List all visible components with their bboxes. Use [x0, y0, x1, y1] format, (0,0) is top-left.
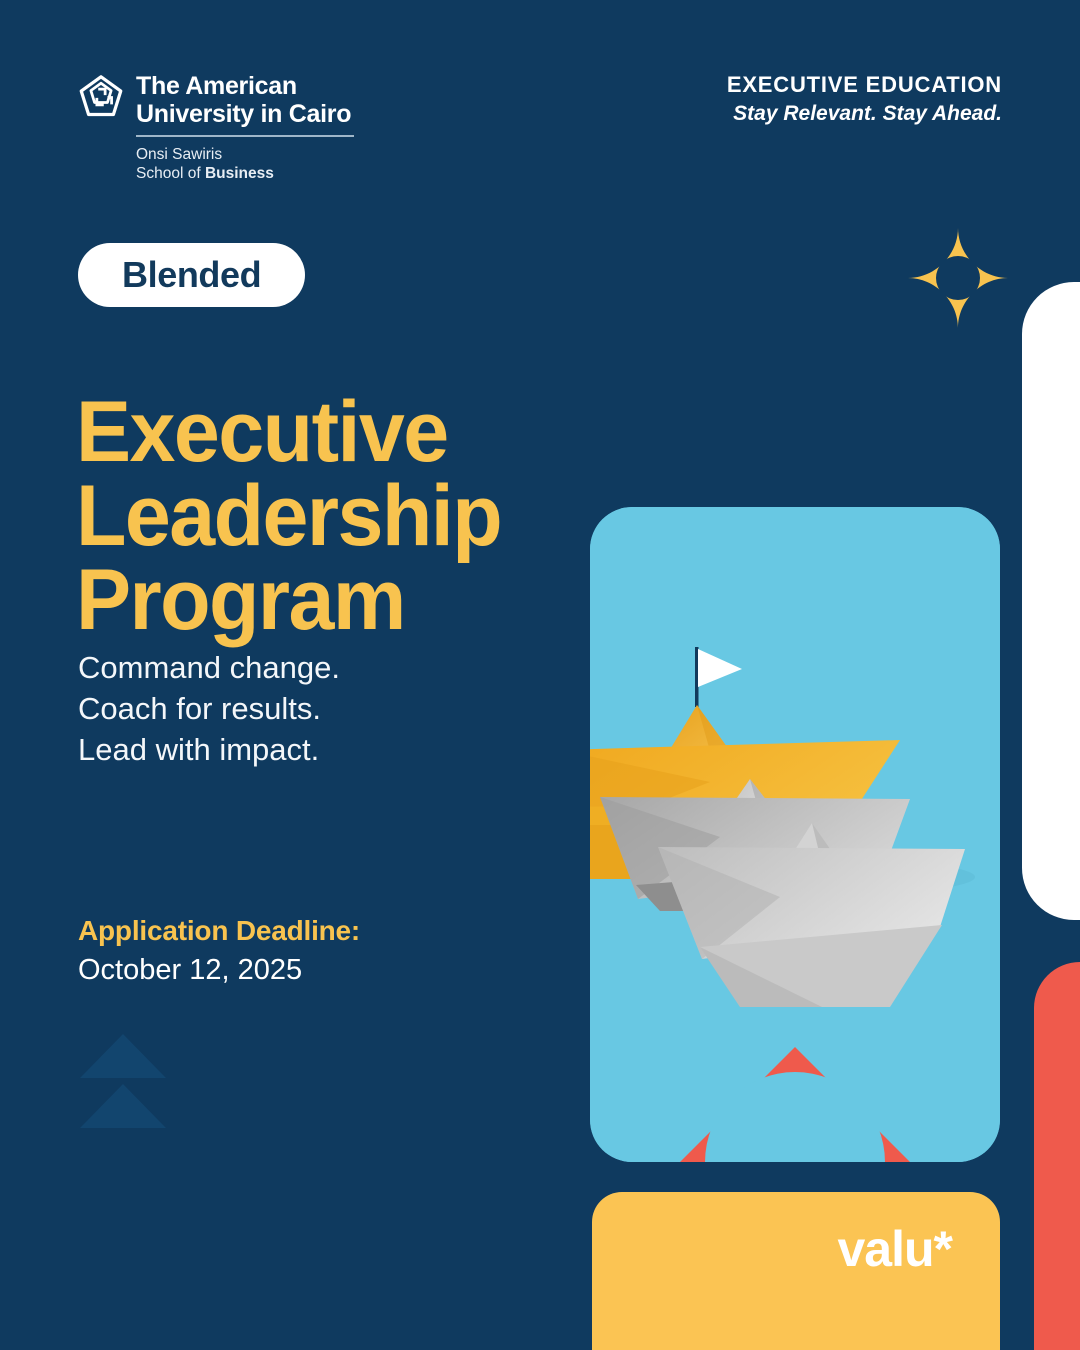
edge-panel-white — [1022, 282, 1080, 920]
four-point-star-icon — [908, 228, 1008, 328]
school-name-line-2: School of Business — [136, 164, 354, 183]
hero-image-card — [590, 507, 1000, 1162]
tagline-line-2: Coach for results. — [78, 689, 340, 730]
edge-panel-coral — [1034, 962, 1080, 1350]
valu-wordmark: valu* — [837, 1221, 952, 1277]
headline-line-1: Executive Leadership — [76, 384, 501, 564]
partner-card: valu* — [592, 1192, 1000, 1350]
badge-label: Blended — [122, 254, 261, 295]
origami-paper-boats-photo — [590, 507, 1000, 1162]
logo-divider — [136, 135, 354, 137]
valu-logo: valu* — [837, 1224, 952, 1274]
executive-education-tagline: Stay Relevant. Stay Ahead. — [727, 102, 1002, 126]
auc-pentagon-emblem-icon — [78, 72, 124, 122]
school-name-line-1: Onsi Sawiris — [136, 145, 354, 164]
school-name-regular: School of — [136, 165, 205, 182]
tagline-line-3: Lead with impact. — [78, 730, 340, 771]
auc-logo: The American University in Cairo Onsi Sa… — [78, 72, 354, 183]
school-name-bold: Business — [205, 165, 274, 182]
auc-logo-line-2: University in Cairo — [136, 100, 354, 128]
poster-canvas: The American University in Cairo Onsi Sa… — [0, 0, 1080, 1350]
tagline-line-1: Command change. — [78, 648, 340, 689]
executive-education-block: EXECUTIVE EDUCATION Stay Relevant. Stay … — [727, 72, 1002, 126]
double-chevron-up-icon — [78, 1026, 168, 1136]
application-deadline-block: Application Deadline: October 12, 2025 — [78, 913, 360, 991]
executive-education-title: EXECUTIVE EDUCATION — [727, 72, 1002, 98]
program-tagline: Command change. Coach for results. Lead … — [78, 648, 340, 771]
auc-logo-line-1: The American — [136, 72, 354, 100]
application-deadline-date: October 12, 2025 — [78, 951, 360, 990]
status-badge: Blended — [78, 243, 305, 307]
application-deadline-label: Application Deadline: — [78, 913, 360, 949]
